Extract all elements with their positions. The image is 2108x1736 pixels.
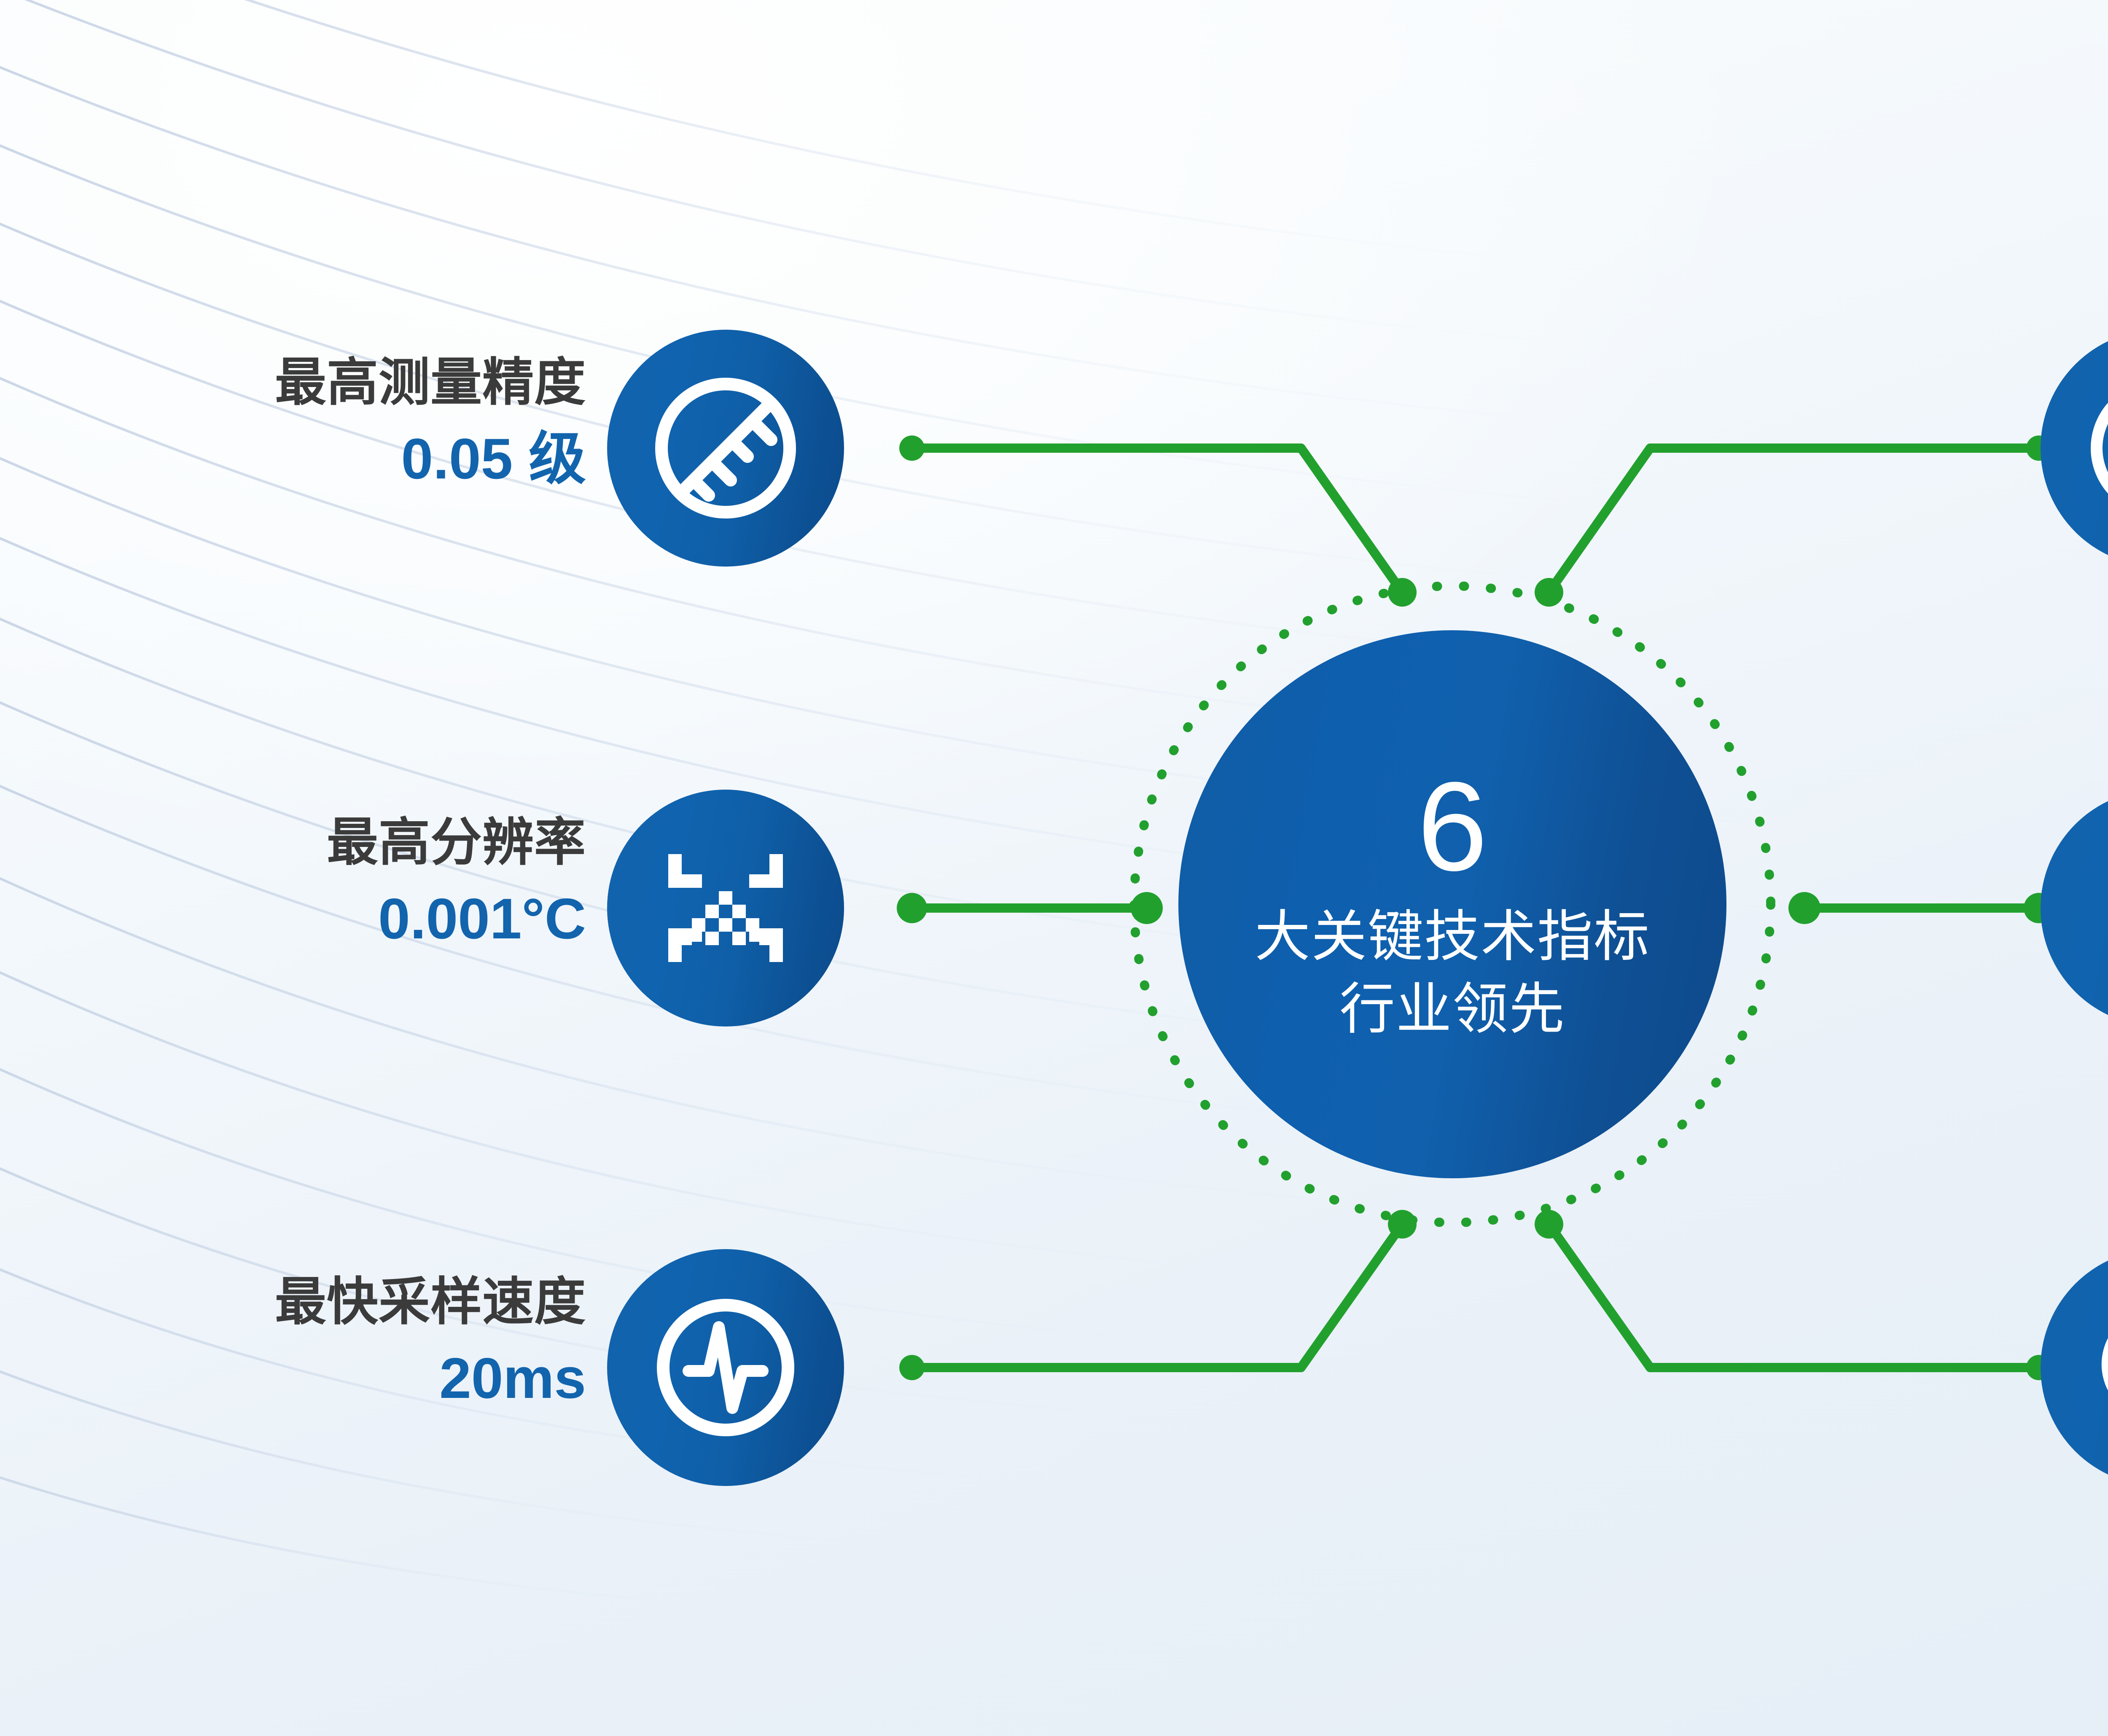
text-resolution: 最高分辨率 0.001°C	[80, 812, 586, 952]
focus-frame-pixel-icon	[641, 824, 810, 992]
text-sampling-speed: 最快采样速度 20ms	[80, 1272, 586, 1412]
label-measurement-accuracy-title: 最高测量精度	[80, 352, 586, 413]
infographic-canvas: 6 大关键技术指标 行业领先 最高测量精度 0.05 级	[0, 0, 2108, 1736]
label-resolution-title: 最高分辨率	[80, 812, 586, 873]
hub-circle: 6 大关键技术指标 行业领先	[1178, 630, 1726, 1178]
thermometer-gear-icon	[2075, 364, 2108, 532]
text-measurement-accuracy: 最高测量精度 0.05 级	[80, 352, 586, 492]
signal-boost-icon	[2075, 824, 2108, 992]
ruler-in-circle-icon	[641, 364, 810, 532]
label-resolution-value: 0.001°C	[80, 885, 586, 952]
arrow-down-circle-icon	[2075, 1283, 2108, 1452]
icon-control-accuracy[interactable]	[2041, 330, 2108, 567]
label-sampling-speed-title: 最快采样速度	[80, 1272, 586, 1333]
icon-sampling-speed[interactable]	[607, 1249, 844, 1486]
hub-line-1: 大关键技术指标	[1255, 900, 1650, 973]
icon-measurement-accuracy[interactable]	[607, 330, 844, 567]
hub-number: 6	[1417, 763, 1488, 889]
hub-line-2: 行业领先	[1339, 973, 1565, 1045]
label-sampling-speed-value: 20ms	[80, 1344, 586, 1412]
label-measurement-accuracy-value: 0.05 级	[80, 425, 586, 492]
pulse-waveform-icon	[641, 1283, 810, 1452]
icon-noise-rejection[interactable]	[2041, 790, 2108, 1027]
icon-resolution[interactable]	[607, 790, 844, 1027]
icon-temperature-drift[interactable]	[2041, 1249, 2108, 1486]
